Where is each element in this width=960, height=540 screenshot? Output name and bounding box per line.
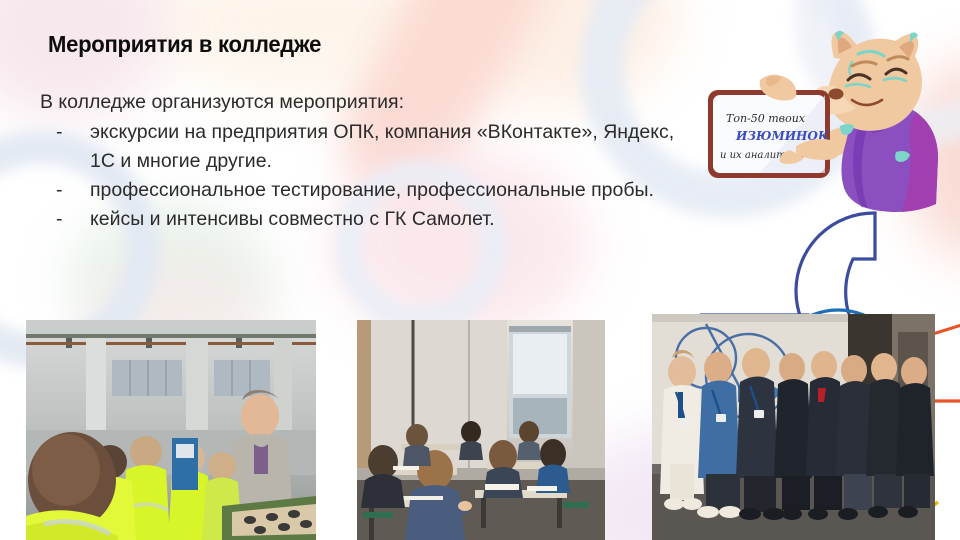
photo-excursion (26, 320, 316, 540)
page-title: Мероприятия в колледже (48, 31, 321, 58)
list-item: - кейсы и интенсивы совместно с ГК Самол… (40, 205, 700, 234)
body-content: В колледже организуются мероприятия: - э… (40, 88, 700, 234)
bullet-list: - экскурсии на предприятия ОПК, компания… (40, 118, 700, 234)
bullet-marker: - (56, 205, 63, 234)
list-item-text: кейсы и интенсивы совместно с ГК Самолет… (90, 208, 495, 230)
list-item: - профессиональное тестирование, професс… (40, 176, 700, 205)
bullet-marker: - (56, 118, 63, 147)
slide-canvas: Мероприятия в колледже В колледже органи… (0, 0, 960, 540)
lead-paragraph: В колледже организуются мероприятия: (40, 88, 700, 117)
list-item-text: экскурсии на предприятия ОПК, компания «… (90, 121, 674, 172)
list-item: - экскурсии на предприятия ОПК, компания… (40, 118, 700, 176)
photo-group-in-hall (652, 314, 935, 540)
fox-mascot-illustration: Топ-50 твоих ИЗЮМИНОК и их аналитика (700, 28, 960, 243)
bullet-marker: - (56, 176, 63, 205)
whiteboard-line-1: Топ-50 твоих (726, 112, 806, 125)
photo-classroom-testing (357, 320, 605, 540)
list-item-text: профессиональное тестирование, профессио… (90, 179, 654, 201)
